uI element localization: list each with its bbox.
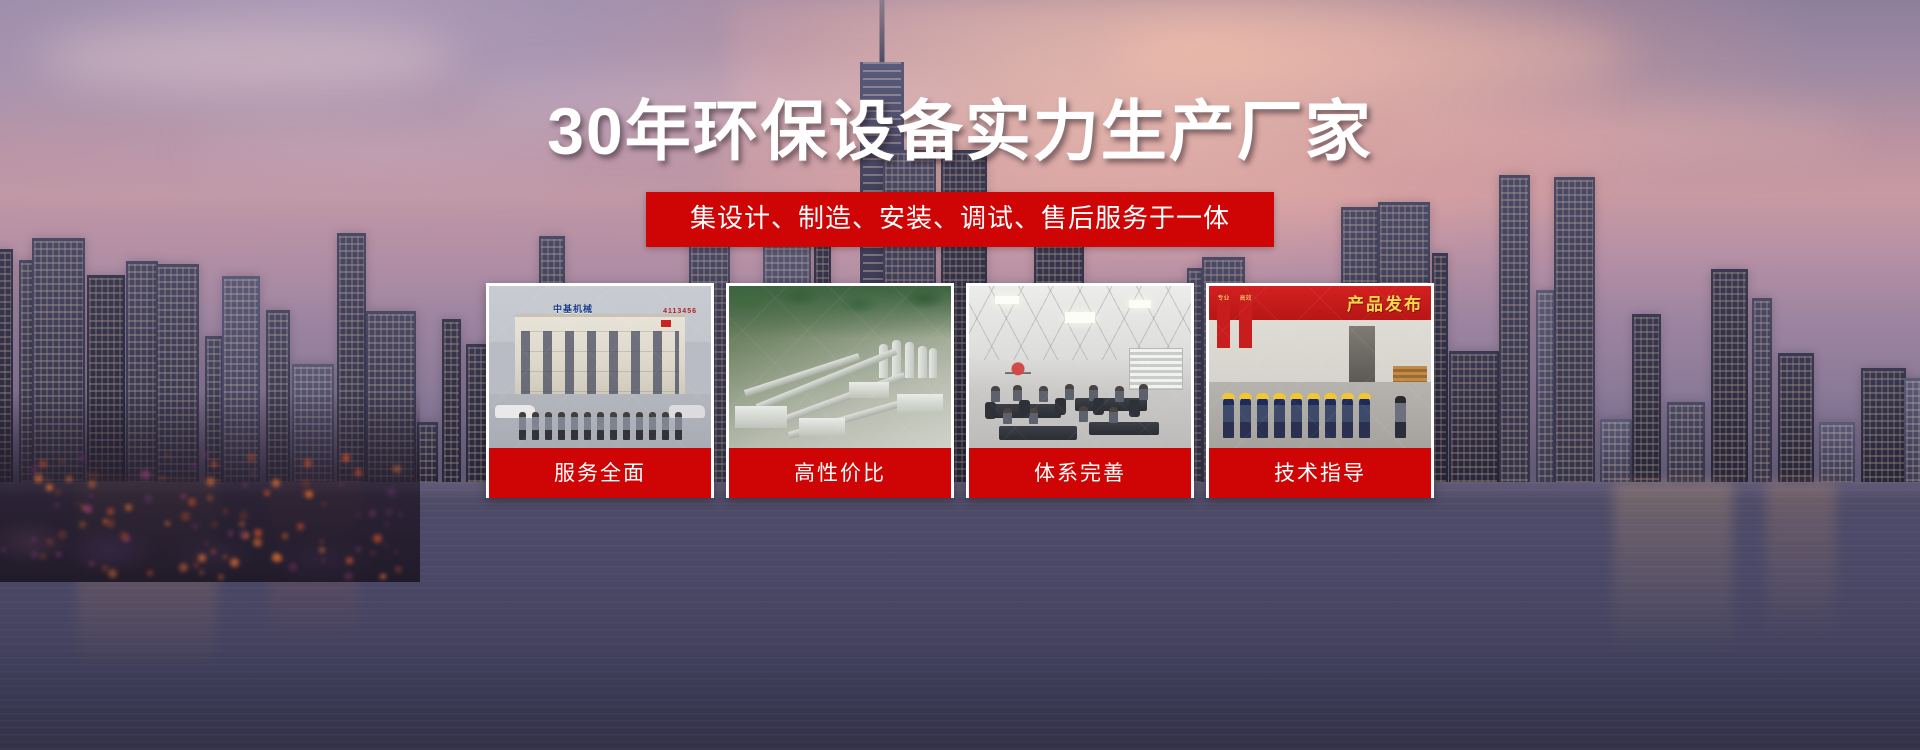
staff-figure (545, 412, 552, 440)
foliage-dot (40, 553, 46, 559)
building (442, 319, 461, 482)
staff-figure (649, 412, 656, 440)
foliage-dot (106, 519, 115, 528)
foliage-dot (31, 551, 38, 558)
foliage-dot (77, 502, 80, 505)
foliage-dot (107, 508, 114, 515)
staff-figure (662, 412, 669, 440)
foliage-dot (199, 570, 204, 575)
building (1432, 253, 1448, 482)
worker-figure (1359, 398, 1370, 438)
plant-building (735, 406, 787, 428)
foliage-dot (239, 511, 248, 520)
foliage-dot (306, 491, 313, 498)
worker-figure (1274, 398, 1285, 438)
foliage-dot (346, 557, 353, 564)
foliage-dot (144, 494, 153, 503)
aerial-factory-plant-photo (729, 286, 951, 448)
seated-person (1003, 408, 1012, 424)
foliage-dot (394, 550, 398, 554)
foliage-dot (320, 540, 323, 543)
staff-figure (597, 412, 604, 440)
office-chair (985, 402, 996, 419)
foliage-dot (253, 538, 262, 547)
office-chair (1129, 400, 1140, 417)
foliage-dot (223, 509, 228, 514)
foliage-dot (322, 559, 325, 562)
foliage-dot (125, 504, 132, 511)
foliage-dot (206, 477, 215, 486)
water-reflection (1766, 482, 1836, 750)
foliage-dot (181, 512, 190, 521)
foliage-dot (264, 490, 270, 496)
foliage-dot (369, 510, 376, 517)
foliage-dot (211, 521, 218, 528)
foliage-dot (87, 473, 90, 476)
foliage-dot (78, 454, 85, 461)
foliage-dot (34, 474, 43, 483)
building (1861, 368, 1906, 482)
foliage-dot (102, 565, 108, 571)
building (1711, 269, 1748, 482)
office-chair (1093, 398, 1104, 415)
desk (1089, 422, 1159, 435)
foliage-dot (371, 551, 375, 555)
foliage-dot (193, 562, 199, 568)
foliage-dot (247, 453, 256, 462)
foliage-dot (344, 572, 353, 581)
foliage-dot (399, 471, 403, 475)
silo (905, 342, 914, 378)
foliage-dot (395, 566, 402, 573)
foliage-dot (191, 522, 199, 530)
foliage-dot (1, 547, 6, 552)
foliage-dot (141, 470, 150, 479)
foliage-dot (302, 479, 310, 487)
workshop-slogan-left-2: 高效 (1239, 292, 1252, 304)
foliage-dot (120, 532, 128, 540)
staff-figure (610, 412, 617, 440)
foliage-dot (230, 558, 239, 567)
building-sign-text: 中基机械 (553, 302, 593, 315)
foliage-dot (228, 530, 233, 535)
workshop-staff-photo: 产品发布 专业 高效 (1209, 286, 1431, 448)
foliage-dot (387, 487, 396, 496)
worker-figure (1240, 398, 1251, 438)
plant-building (849, 382, 889, 398)
foliage-dot (218, 574, 224, 580)
supervisor-figure (1395, 396, 1406, 438)
subtitle-container: 集设计、制造、安装、调试、售后服务于一体 (0, 192, 1920, 247)
seated-person (1079, 406, 1088, 422)
staff-figure (571, 412, 578, 440)
office-workspace-photo (969, 286, 1191, 448)
foliage-dot (223, 555, 227, 559)
foliage-dot (179, 563, 188, 572)
staff-figure (636, 412, 643, 440)
hero-banner: 30年环保设备实力生产厂家 集设计、制造、安装、调试、售后服务于一体 中基机械 … (0, 0, 1920, 750)
foliage-dot (342, 454, 350, 462)
foliage-dot (211, 461, 217, 467)
foliage-dot (355, 469, 362, 476)
office-chair (1055, 398, 1066, 415)
foliage-dot (207, 495, 213, 501)
foliage-dot (355, 512, 361, 518)
building (1449, 351, 1499, 482)
workshop-banner-text: 产品发布 (1347, 290, 1423, 315)
staff-figure (623, 412, 630, 440)
feature-card-caption: 高性价比 (729, 448, 951, 498)
foliage-dot (319, 547, 325, 553)
foliage-dot (188, 498, 196, 506)
feature-card-caption: 服务全面 (489, 448, 711, 498)
building (1536, 290, 1555, 482)
foliage-dot (398, 512, 403, 517)
worker-figure (1223, 398, 1234, 438)
plant-building (897, 394, 943, 414)
staff-figure (558, 412, 565, 440)
flag-icon (661, 320, 671, 327)
building (1778, 353, 1814, 482)
foliage-dot (66, 476, 72, 482)
foliage-dot (79, 521, 86, 528)
foliage-dot (56, 552, 61, 557)
building (1904, 378, 1920, 482)
foliage-dot (55, 489, 61, 495)
foliage-dot (272, 479, 280, 487)
worker-figure (1257, 398, 1268, 438)
staff-figure (675, 412, 682, 440)
foliage-dot (297, 523, 304, 530)
foliage-dot (32, 537, 36, 541)
foliage-dot (46, 477, 51, 482)
staff-figure (584, 412, 591, 440)
foliage-dot (384, 543, 388, 547)
worker-figure (1325, 398, 1336, 438)
foliage-dot (289, 563, 297, 571)
foliage-dot (204, 453, 208, 457)
foliage-dot (46, 484, 53, 491)
building (1600, 419, 1632, 482)
foliage-dot (88, 480, 96, 488)
foliage-dot (282, 533, 288, 539)
seated-person (1109, 407, 1118, 423)
foliage-dot (46, 538, 54, 546)
foliage-dot (252, 472, 255, 475)
company-office-building-photo: 中基机械 4113456 (489, 286, 711, 448)
seated-person (1029, 408, 1038, 424)
foliage-dot (99, 463, 102, 466)
foliage-dot (304, 459, 312, 467)
silo (892, 340, 901, 378)
foliage-dot (89, 561, 94, 566)
seated-person (1013, 385, 1022, 401)
foliage-dot (385, 508, 393, 516)
feature-card-caption: 技术指导 (1209, 448, 1431, 498)
feature-card-row: 中基机械 4113456 服务全面 高性价比 (486, 283, 1434, 498)
foliage-dot (278, 557, 282, 561)
building (1632, 314, 1661, 482)
foliage-dot (181, 494, 186, 499)
seated-person (1115, 386, 1124, 402)
foliage-dot (384, 522, 389, 527)
foliage-dot (165, 521, 170, 526)
foliage-dot (30, 465, 39, 474)
foliage-dot (381, 574, 386, 579)
worker-figure (1308, 398, 1319, 438)
foliage-dot (198, 554, 206, 562)
foliage-dot (205, 542, 208, 545)
foliage-dot (58, 530, 67, 539)
feature-card[interactable]: 体系完善 (966, 283, 1194, 498)
foliage-dot (39, 460, 47, 468)
foliage-dot (339, 482, 343, 486)
feature-card[interactable]: 中基机械 4113456 服务全面 (486, 283, 714, 498)
seated-person (1139, 384, 1148, 400)
foliage-dot (322, 502, 326, 506)
silo (929, 348, 937, 378)
foliage-dot (108, 569, 117, 578)
seated-person (991, 386, 1000, 402)
staff-figure (532, 412, 539, 440)
feature-card-caption: 体系完善 (969, 448, 1191, 498)
foliage-dot (147, 570, 153, 576)
foliage-dot (54, 502, 60, 508)
foliage-dot (217, 480, 220, 483)
foliage-dot (88, 493, 93, 498)
building (1752, 298, 1772, 482)
foliage-dot (61, 460, 64, 463)
foliage-dot (81, 505, 86, 510)
workshop-slogan-left-1: 专业 (1217, 292, 1230, 304)
staff-figure (519, 412, 526, 440)
office-chair (1019, 400, 1030, 417)
foliage-dot (160, 476, 164, 480)
foliage-dot (356, 547, 361, 552)
plant-building (799, 418, 845, 436)
worker-figure (1342, 398, 1353, 438)
feature-card[interactable]: 产品发布 专业 高效 技术指导 (1206, 283, 1434, 498)
seated-person (1039, 386, 1048, 402)
foliage-dot (211, 549, 216, 554)
wall-logo (1005, 360, 1031, 382)
water-reflection (1613, 482, 1733, 750)
desk (999, 426, 1077, 440)
page-title: 30年环保设备实力生产厂家 (0, 98, 1920, 164)
subtitle-badge: 集设计、制造、安装、调试、售后服务于一体 (646, 192, 1274, 247)
foliage-dot (190, 463, 196, 469)
building-phone-text: 4113456 (663, 308, 697, 315)
seated-person (1065, 384, 1074, 400)
foliage-dot (239, 521, 245, 527)
silo (918, 346, 927, 378)
foliage-dot (243, 483, 247, 487)
worker-figure (1291, 398, 1302, 438)
foliage-dot (239, 530, 247, 538)
building (1819, 422, 1855, 482)
foreground-foliage (0, 392, 420, 582)
feature-card[interactable]: 高性价比 (726, 283, 954, 498)
foliage-dot (92, 472, 99, 479)
building (417, 422, 438, 482)
foliage-dot (373, 534, 382, 543)
foliage-dot (254, 529, 262, 537)
building (1667, 402, 1705, 482)
foliage-dot (166, 454, 169, 457)
